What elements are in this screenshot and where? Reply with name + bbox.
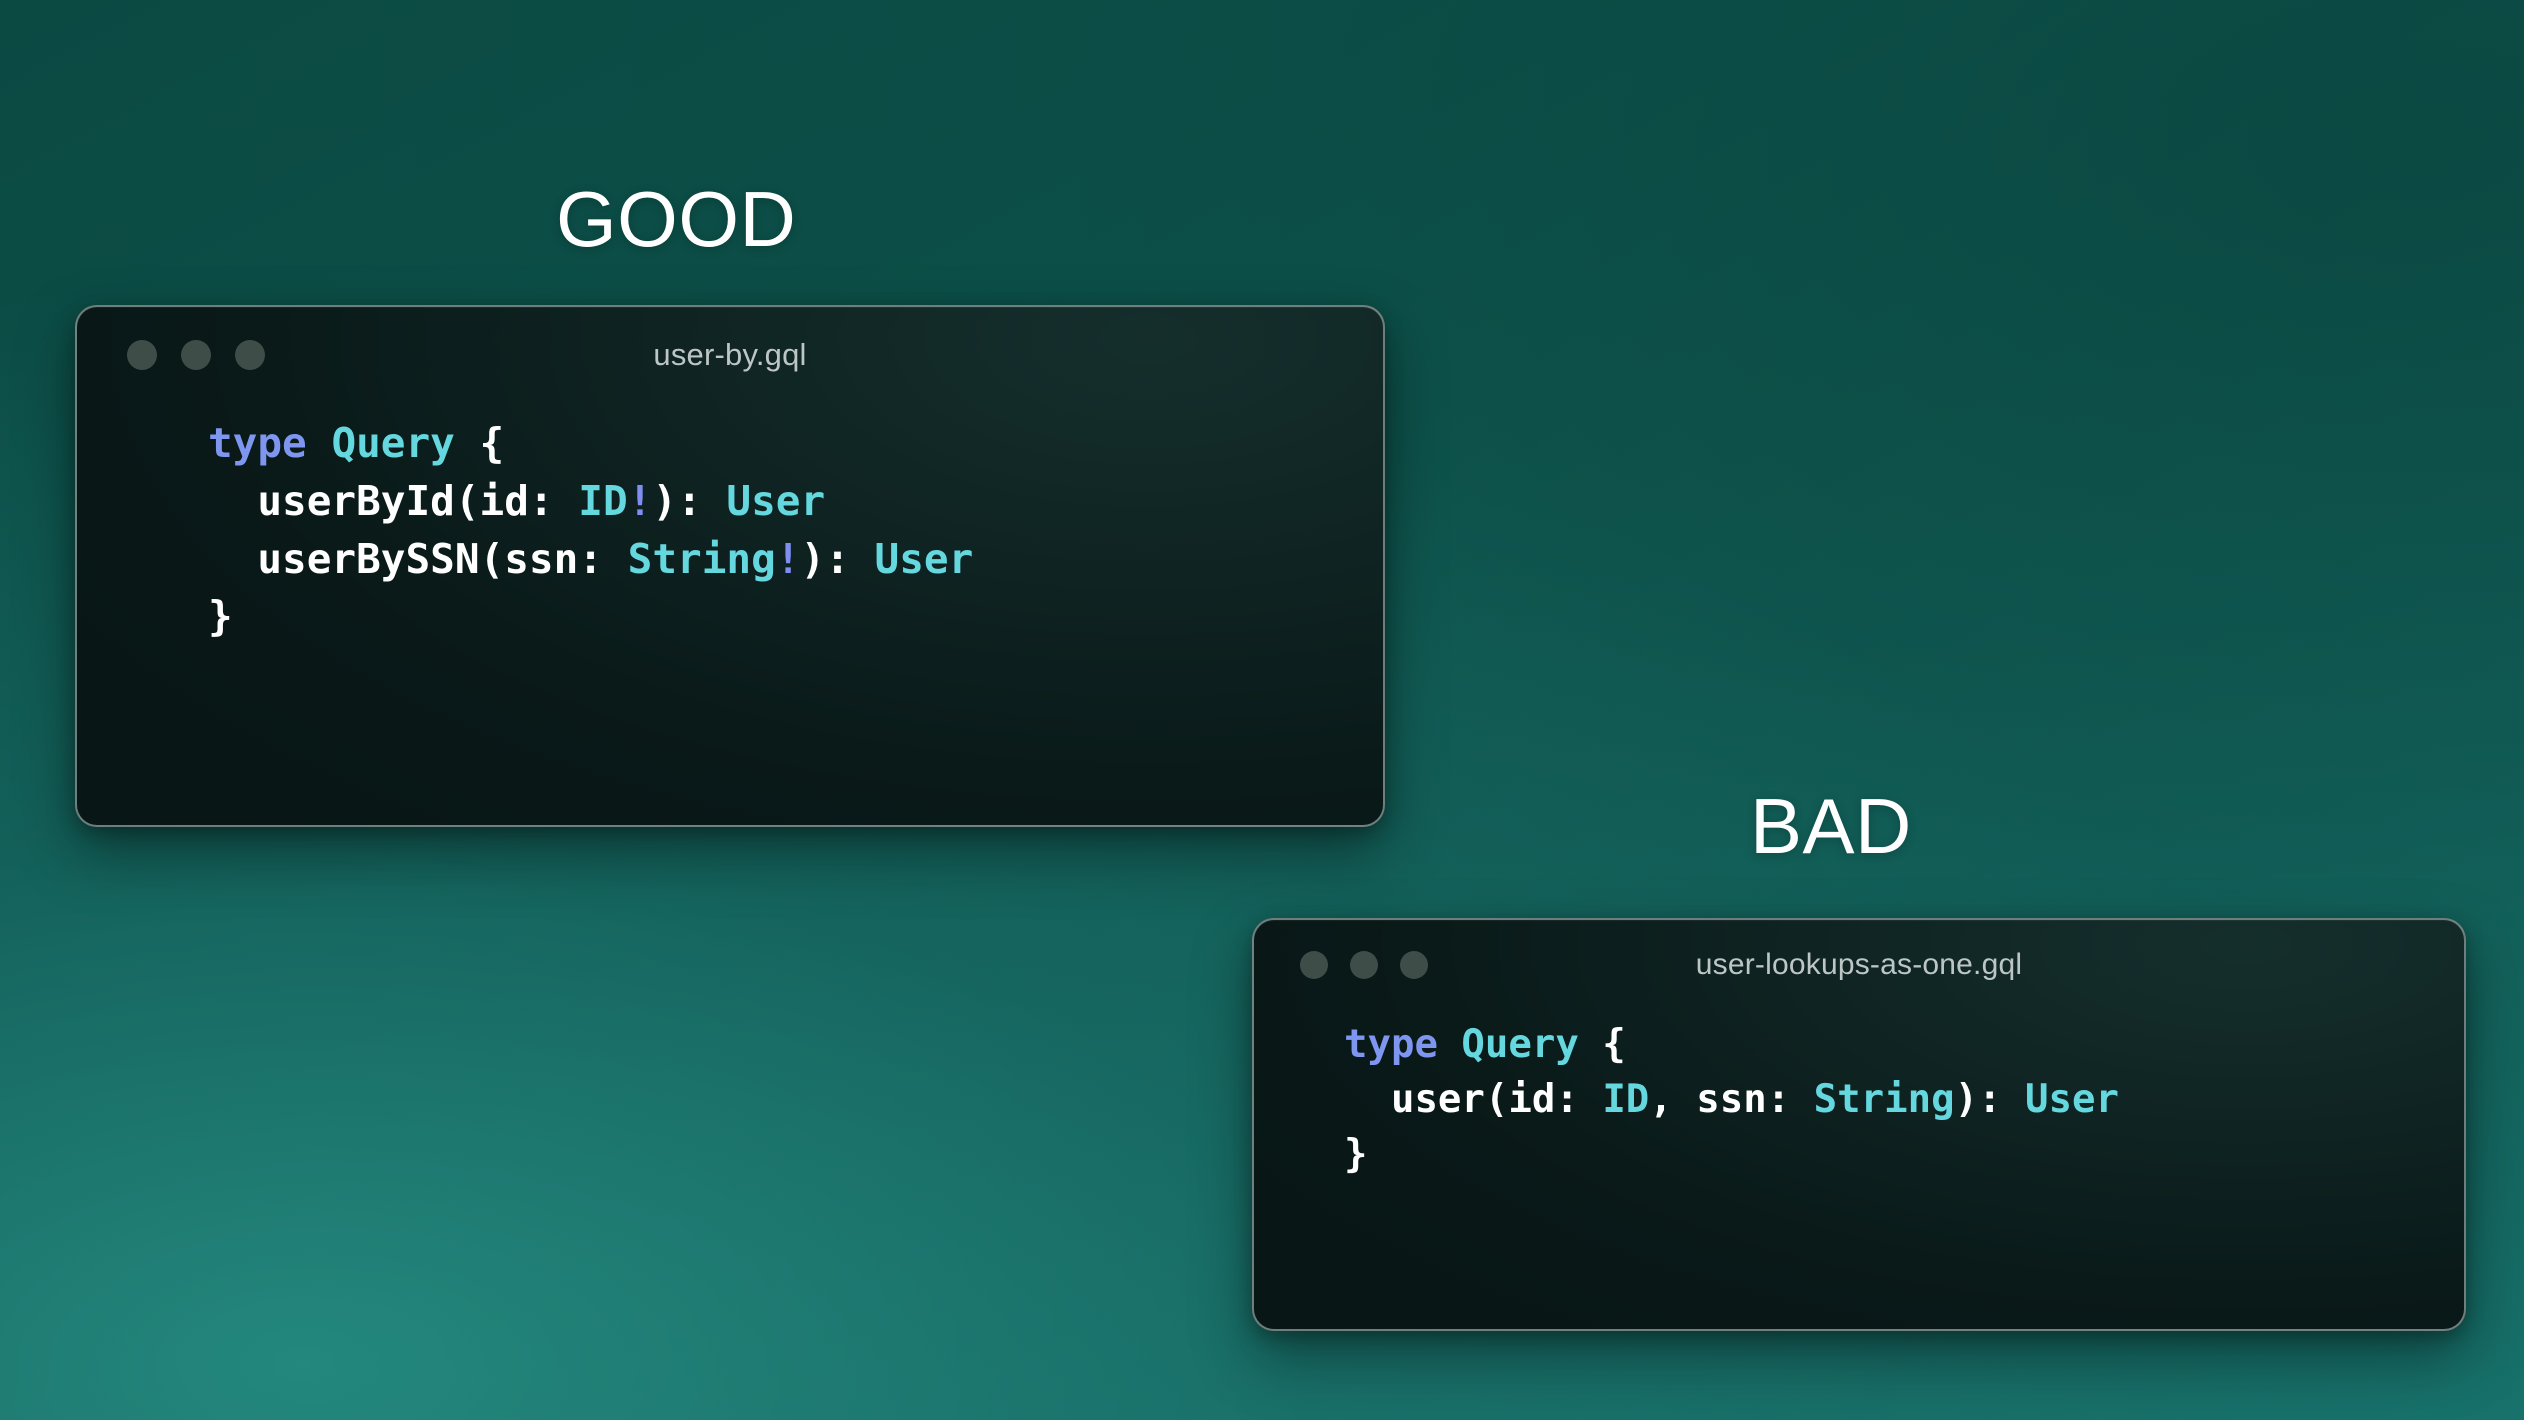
code-token-punct: { (455, 419, 504, 467)
code-token-type: Query (1461, 1022, 1578, 1067)
code-token-punct (307, 419, 332, 467)
maximize-dot-icon[interactable] (1400, 951, 1428, 979)
code-token-punct: : (578, 535, 627, 583)
code-token-punct: ): (1955, 1077, 2025, 1122)
code-window-bad: user-lookups-as-one.gql type Query { use… (1252, 918, 2466, 1331)
close-dot-icon[interactable] (127, 340, 157, 370)
maximize-dot-icon[interactable] (235, 340, 265, 370)
code-token-arg: ssn (1696, 1077, 1766, 1122)
code-token-punct (208, 477, 257, 525)
code-token-punct: { (1579, 1022, 1626, 1067)
traffic-lights-bad (1300, 951, 1428, 979)
code-token-punct: } (208, 592, 233, 640)
code-token-kw: type (1344, 1022, 1438, 1067)
code-token-punct: ): (800, 535, 874, 583)
code-token-punct: ( (480, 535, 505, 583)
window-titlebar-good: user-by.gql (77, 307, 1383, 403)
slide-canvas: GOOD user-by.gql type Query { userById(i… (0, 0, 2524, 1420)
window-filename-bad: user-lookups-as-one.gql (1254, 948, 2464, 982)
code-window-good: user-by.gql type Query { userById(id: ID… (75, 305, 1385, 827)
code-token-punct: : (1555, 1077, 1602, 1122)
code-token-punct (1344, 1077, 1391, 1122)
code-token-type: User (875, 535, 974, 583)
code-token-type: User (2025, 1077, 2119, 1122)
code-token-punct: , (1649, 1077, 1696, 1122)
minimize-dot-icon[interactable] (1350, 951, 1378, 979)
code-token-bang: ! (628, 477, 653, 525)
code-token-type: ID (578, 477, 627, 525)
bad-section-heading: BAD (1750, 787, 1912, 865)
code-token-type: String (1814, 1077, 1955, 1122)
code-token-type: String (628, 535, 776, 583)
code-token-field: userById (257, 477, 454, 525)
code-token-type: Query (331, 419, 454, 467)
window-titlebar-bad: user-lookups-as-one.gql (1254, 920, 2464, 1010)
code-token-punct: } (1344, 1132, 1367, 1177)
close-dot-icon[interactable] (1300, 951, 1328, 979)
code-token-punct (208, 535, 257, 583)
code-token-kw: type (208, 419, 307, 467)
code-token-punct: ): (652, 477, 726, 525)
code-token-field: user (1391, 1077, 1485, 1122)
minimize-dot-icon[interactable] (181, 340, 211, 370)
code-token-punct (1438, 1022, 1461, 1067)
code-token-field: userBySSN (257, 535, 479, 583)
code-block-bad: type Query { user(id: ID, ssn: String): … (1254, 1010, 2464, 1183)
good-section-heading: GOOD (556, 180, 796, 258)
window-filename-good: user-by.gql (77, 337, 1383, 373)
code-token-arg: id (480, 477, 529, 525)
code-token-type: User (726, 477, 825, 525)
code-token-bang: ! (776, 535, 801, 583)
code-token-arg: ssn (504, 535, 578, 583)
code-token-arg: id (1508, 1077, 1555, 1122)
code-token-punct: ( (455, 477, 480, 525)
code-token-type: ID (1602, 1077, 1649, 1122)
code-block-good: type Query { userById(id: ID!): User use… (77, 403, 1383, 646)
code-token-punct: ( (1485, 1077, 1508, 1122)
traffic-lights-good (127, 340, 265, 370)
code-token-punct: : (1767, 1077, 1814, 1122)
code-token-punct: : (529, 477, 578, 525)
